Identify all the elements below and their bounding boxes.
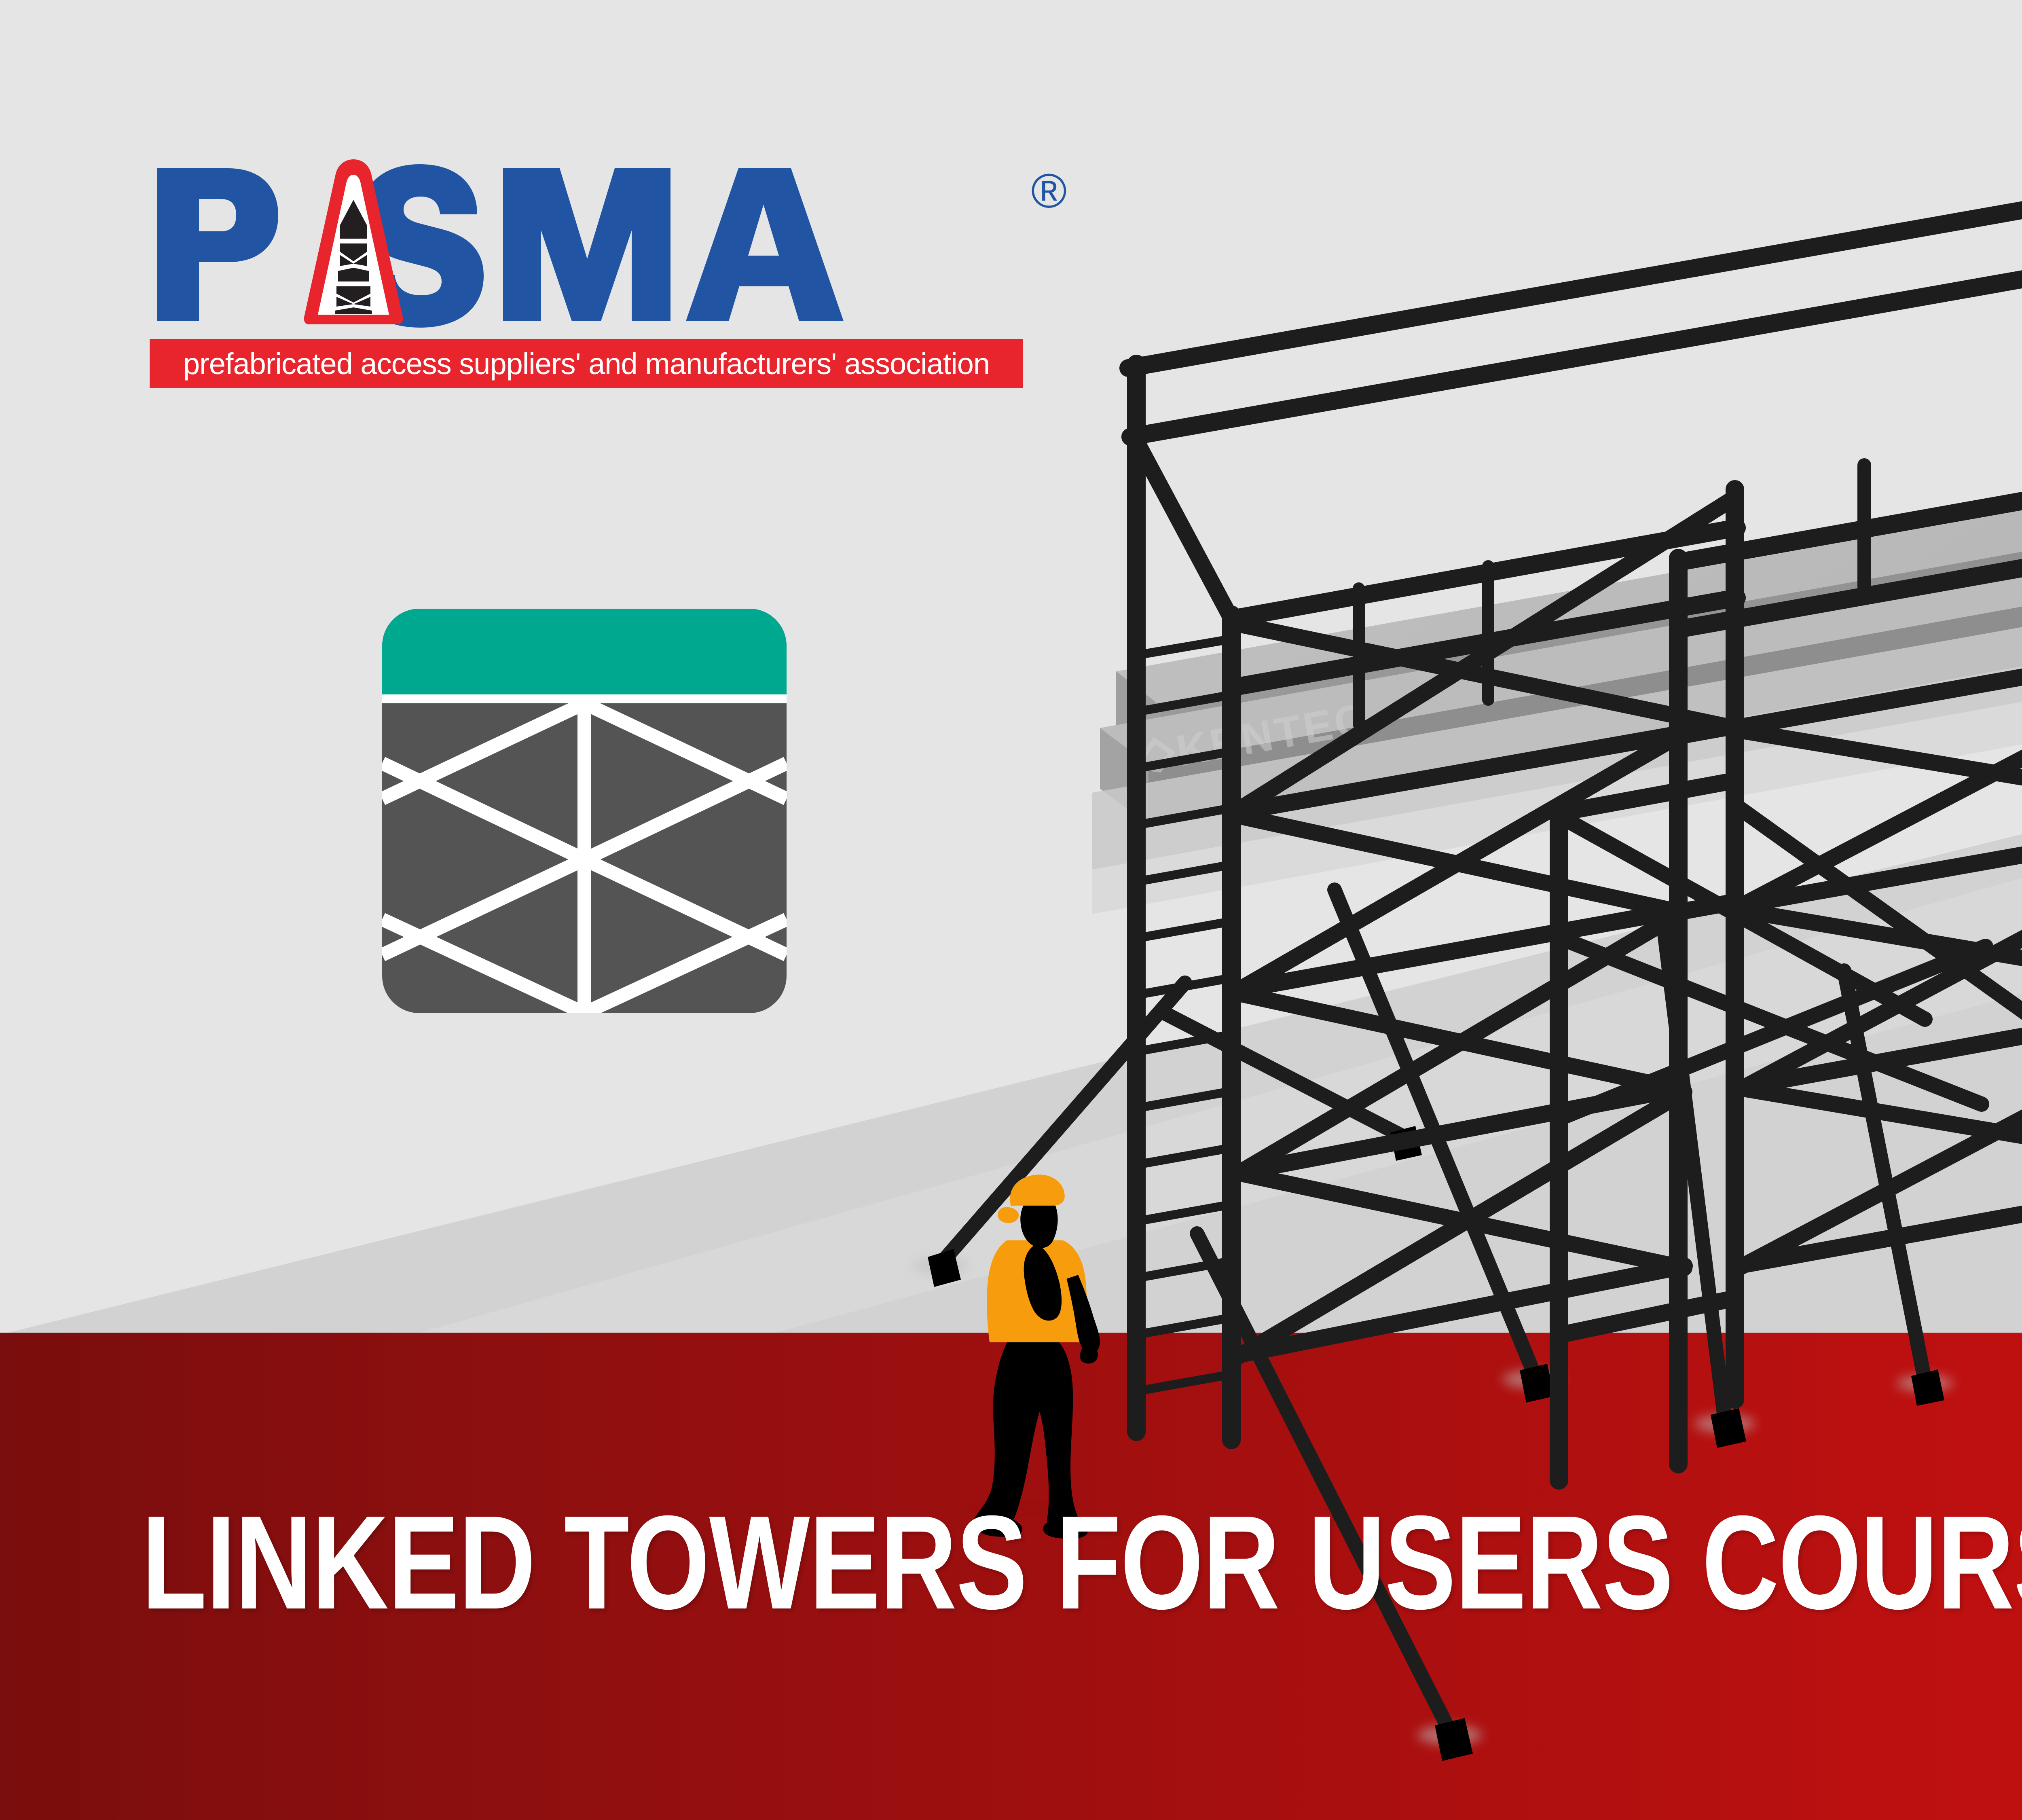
linked-towers-icon [382,609,787,1013]
course-banner: KENTEC [0,0,2022,1820]
page-title: LINKED TOWERS FOR USERS COURSE [142,1496,2022,1629]
registered-trademark-icon: ® [1031,167,1067,215]
pasma-wordmark: . [150,158,1072,332]
worker-left [967,1175,1100,1539]
pasma-tagline: prefabricated access suppliers' and manu… [150,339,1023,388]
pasma-logo: . ® prefabricated access suppliers' and … [150,158,1072,392]
svg-text:.: . [1018,202,1019,203]
